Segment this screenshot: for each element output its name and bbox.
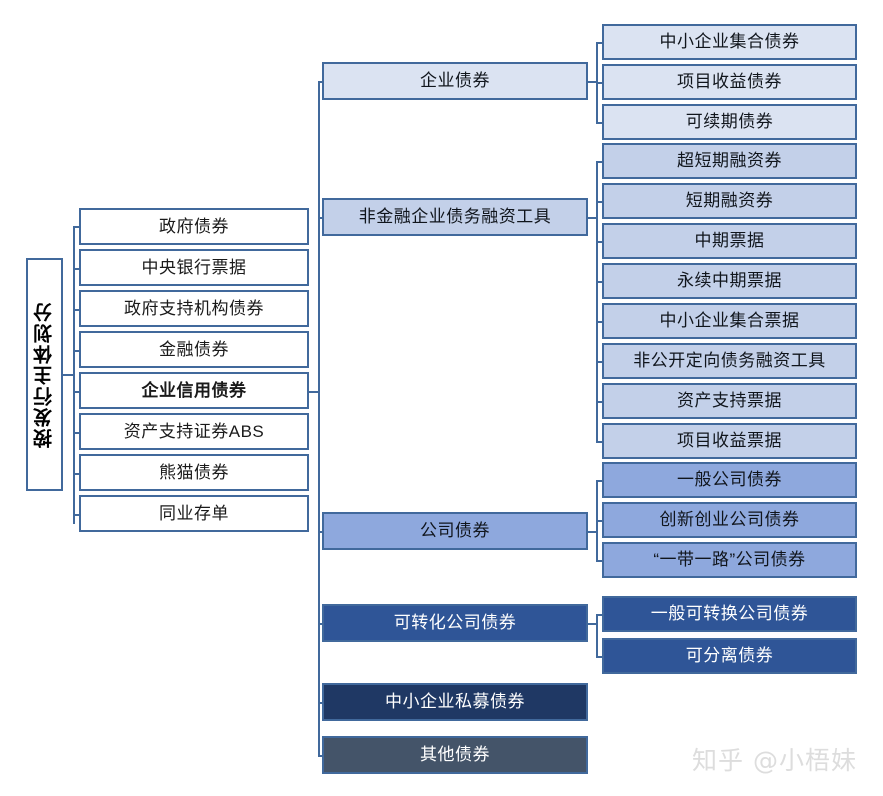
level1-node-7[interactable]: 同业存单: [79, 495, 309, 532]
level1-node-4[interactable]: 企业信用债券: [79, 372, 309, 409]
level3-node-14-label: 一般可转换公司债券: [651, 605, 809, 623]
connector-branch-b-trunk: [596, 161, 598, 441]
level3-node-8[interactable]: 非公开定向债务融资工具: [602, 343, 857, 379]
level1-node-6-label: 熊猫债券: [159, 464, 229, 482]
level3-node-9[interactable]: 资产支持票据: [602, 383, 857, 419]
level3-node-0[interactable]: 中小企业集合债券: [602, 24, 857, 60]
level3-node-11[interactable]: 一般公司债券: [602, 462, 857, 498]
level2-node-2[interactable]: 公司债券: [322, 512, 588, 550]
connector-level1-trunk: [73, 226, 75, 524]
level1-node-5[interactable]: 资产支持证券ABS: [79, 413, 309, 450]
level1-node-6[interactable]: 熊猫债券: [79, 454, 309, 491]
level3-node-10[interactable]: 项目收益票据: [602, 423, 857, 459]
level2-node-4-label: 中小企业私募债券: [385, 693, 525, 711]
level3-node-13-label: “一带一路”公司债券: [653, 551, 805, 569]
level3-node-14[interactable]: 一般可转换公司债券: [602, 596, 857, 632]
level1-node-3[interactable]: 金融债券: [79, 331, 309, 368]
diagram-canvas: 按发行主体划分 政府债券 中央银行票据 政府支持机构债券 金融债券 企业信用债券…: [0, 0, 883, 796]
connector-level2-trunk: [318, 81, 320, 756]
level2-node-3-label: 可转化公司债券: [394, 614, 517, 632]
level3-node-1[interactable]: 项目收益债券: [602, 64, 857, 100]
level1-node-1-label: 中央银行票据: [142, 259, 247, 277]
level3-node-13[interactable]: “一带一路”公司债券: [602, 542, 857, 578]
level1-node-3-label: 金融债券: [159, 341, 229, 359]
level2-node-3[interactable]: 可转化公司债券: [322, 604, 588, 642]
level3-node-6-label: 永续中期票据: [677, 272, 782, 290]
level3-node-12-label: 创新创业公司债券: [660, 511, 800, 529]
level3-node-5-label: 中期票据: [695, 232, 765, 250]
level1-node-7-label: 同业存单: [159, 505, 229, 523]
root-node-label: 按发行主体划分: [31, 301, 58, 448]
level1-node-0[interactable]: 政府债券: [79, 208, 309, 245]
level3-node-7[interactable]: 中小企业集合票据: [602, 303, 857, 339]
root-node-issuer-classification: 按发行主体划分: [26, 258, 63, 491]
level3-node-4-label: 短期融资券: [686, 192, 774, 210]
level3-node-7-label: 中小企业集合票据: [660, 312, 800, 330]
level3-node-0-label: 中小企业集合债券: [660, 33, 800, 51]
level1-node-5-label: 资产支持证券ABS: [124, 423, 265, 441]
level2-node-5-label: 其他债券: [420, 746, 490, 764]
watermark-zhihu: 知乎 @小梧妹: [692, 741, 857, 777]
level3-node-1-label: 项目收益债券: [677, 73, 782, 91]
level2-node-0-label: 企业债券: [420, 72, 490, 90]
level3-node-12[interactable]: 创新创业公司债券: [602, 502, 857, 538]
level3-node-6[interactable]: 永续中期票据: [602, 263, 857, 299]
level3-node-8-label: 非公开定向债务融资工具: [633, 352, 826, 370]
level1-node-1[interactable]: 中央银行票据: [79, 249, 309, 286]
level3-node-4[interactable]: 短期融资券: [602, 183, 857, 219]
level2-node-5[interactable]: 其他债券: [322, 736, 588, 774]
level3-node-2[interactable]: 可续期债券: [602, 104, 857, 140]
level3-node-3[interactable]: 超短期融资券: [602, 143, 857, 179]
level3-node-10-label: 项目收益票据: [677, 432, 782, 450]
level2-node-4[interactable]: 中小企业私募债券: [322, 683, 588, 721]
level1-node-2[interactable]: 政府支持机构债券: [79, 290, 309, 327]
level3-node-5[interactable]: 中期票据: [602, 223, 857, 259]
level1-node-0-label: 政府债券: [159, 218, 229, 236]
level2-node-2-label: 公司债券: [420, 522, 490, 540]
level3-node-3-label: 超短期融资券: [677, 152, 782, 170]
level3-node-9-label: 资产支持票据: [677, 392, 782, 410]
level2-node-1[interactable]: 非金融企业债务融资工具: [322, 198, 588, 236]
level3-node-15-label: 可分离债券: [686, 647, 774, 665]
level1-node-2-label: 政府支持机构债券: [124, 300, 264, 318]
connector-branch-d-trunk: [596, 614, 598, 656]
level1-node-4-label: 企业信用债券: [142, 382, 247, 400]
level3-node-15[interactable]: 可分离债券: [602, 638, 857, 674]
level2-node-0[interactable]: 企业债券: [322, 62, 588, 100]
level3-node-11-label: 一般公司债券: [677, 471, 782, 489]
level2-node-1-label: 非金融企业债务融资工具: [359, 208, 552, 226]
level3-node-2-label: 可续期债券: [686, 113, 774, 131]
